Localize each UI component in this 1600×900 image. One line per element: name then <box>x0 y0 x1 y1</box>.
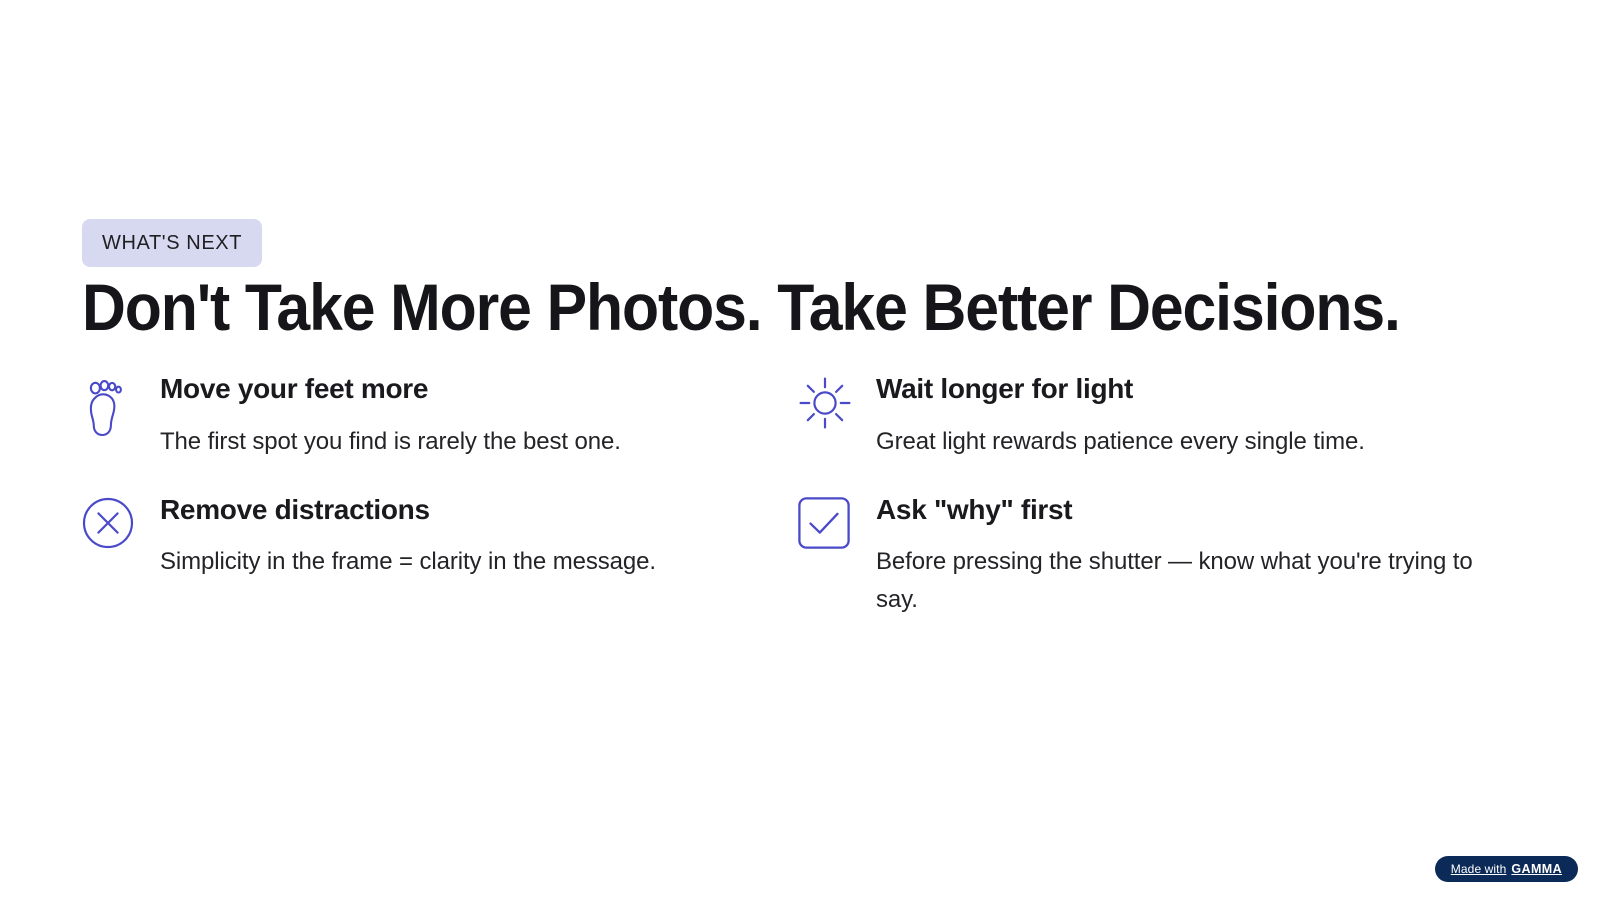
feature-item-wait-longer-for-light: Wait longer for light Great light reward… <box>798 372 1514 461</box>
feature-item-move-your-feet-more: Move your feet more The first spot you f… <box>82 372 798 461</box>
feature-body: Wait longer for light Great light reward… <box>876 372 1514 461</box>
badge-brand-label: GAMMA <box>1511 862 1562 876</box>
feature-title: Wait longer for light <box>876 372 1484 406</box>
badge-prefix-label: Made with <box>1451 862 1507 876</box>
feature-body: Ask "why" first Before pressing the shut… <box>876 493 1514 619</box>
feature-body: Move your feet more The first spot you f… <box>160 372 798 461</box>
checkbox-check-icon <box>798 493 876 565</box>
feature-description: Simplicity in the frame = clarity in the… <box>160 543 768 581</box>
feature-description: Great light rewards patience every singl… <box>876 423 1484 461</box>
feature-item-remove-distractions: Remove distractions Simplicity in the fr… <box>82 493 798 619</box>
feature-item-ask-why-first: Ask "why" first Before pressing the shut… <box>798 493 1514 619</box>
circle-x-icon <box>82 493 160 565</box>
made-with-gamma-badge[interactable]: Made with GAMMA <box>1435 856 1578 882</box>
feature-body: Remove distractions Simplicity in the fr… <box>160 493 798 582</box>
slide-canvas: WHAT'S NEXT Don't Take More Photos. Take… <box>0 0 1600 900</box>
feature-title: Move your feet more <box>160 372 768 406</box>
feature-grid: Move your feet more The first spot you f… <box>82 372 1512 619</box>
eyebrow-badge: WHAT'S NEXT <box>82 219 262 267</box>
feature-title: Ask "why" first <box>876 493 1484 527</box>
feature-description: Before pressing the shutter — know what … <box>876 543 1484 619</box>
feature-title: Remove distractions <box>160 493 768 527</box>
feature-description: The first spot you find is rarely the be… <box>160 423 768 461</box>
sun-icon <box>798 372 876 444</box>
footprint-icon <box>82 372 160 444</box>
page-title: Don't Take More Photos. Take Better Deci… <box>82 272 1407 343</box>
